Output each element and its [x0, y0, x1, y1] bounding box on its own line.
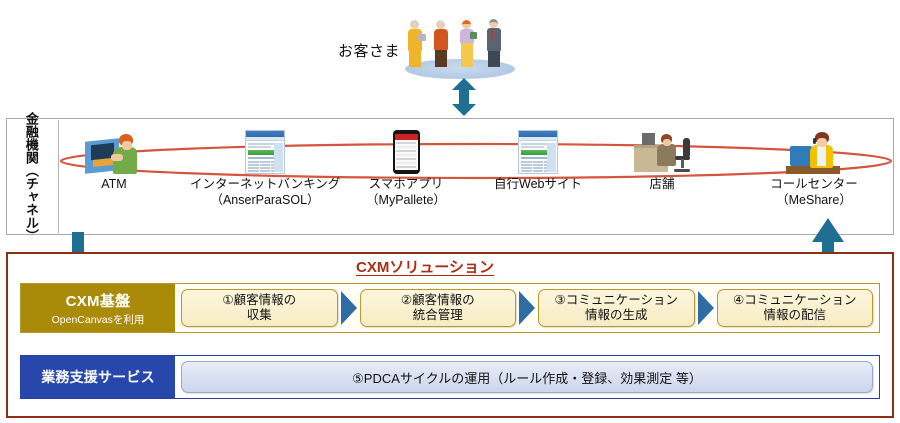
double-arrow-icon [452, 78, 476, 116]
channel-vertical-label: 金融機関（チャネル） [10, 124, 52, 230]
person-figure [432, 20, 449, 67]
browser-window-icon [478, 128, 598, 174]
channel-sublabel: （MeShare） [748, 193, 880, 209]
service-badge: 業務支援サービス [21, 356, 175, 398]
chevron-right-icon [338, 291, 360, 325]
channel-item-branch[interactable]: 店舗 [612, 128, 712, 193]
shoulder-bag-icon [470, 32, 477, 39]
atm-icon [66, 128, 162, 174]
channel-item-internet-banking[interactable]: インターネットバンキング （AnserParaSOL） [190, 128, 340, 208]
channel-sublabel: （MyPallete） [350, 193, 462, 209]
cxm-step[interactable]: ①顧客情報の 収集 [181, 289, 338, 327]
chevron-right-icon [516, 291, 538, 325]
channel-label: スマホアプリ [350, 177, 462, 193]
service-bar-wrap: ⑤PDCAサイクルの運用（ルール作成・登録、効果測定 等） [175, 356, 879, 398]
channel-label: ATM [66, 177, 162, 193]
branch-desk-icon [612, 128, 712, 174]
cxm-step[interactable]: ④コミュニケーション 情報の配信 [717, 289, 874, 327]
cxm-platform-title: CXM基盤 [66, 290, 131, 311]
person-figure [485, 19, 502, 67]
handbag-icon [418, 34, 426, 41]
channel-divider [58, 120, 59, 233]
cxm-step[interactable]: ③コミュニケーション 情報の生成 [538, 289, 695, 327]
cxm-step-list: ①顧客情報の 収集 ②顧客情報の 統合管理 ③コミュニケーション 情報の生成 ④… [175, 284, 879, 332]
person-figure [406, 20, 423, 67]
channel-label: コールセンター [748, 177, 880, 193]
cxm-platform-subtitle: OpenCanvasを利用 [52, 312, 145, 327]
customer-label: お客さま [338, 40, 400, 61]
cxm-solution-title: CXMソリューション [356, 256, 494, 277]
cxm-step[interactable]: ②顧客情報の 統合管理 [360, 289, 517, 327]
cxm-platform-badge: CXM基盤 OpenCanvasを利用 [21, 284, 175, 332]
smartphone-icon [350, 128, 462, 174]
browser-window-icon [190, 128, 340, 174]
customer-people-group [400, 2, 520, 80]
channel-item-smartphone-app[interactable]: スマホアプリ （MyPallete） [350, 128, 462, 208]
channel-item-own-website[interactable]: 自行Webサイト [478, 128, 598, 193]
pdca-cycle-bar[interactable]: ⑤PDCAサイクルの運用（ルール作成・登録、効果測定 等） [181, 361, 873, 393]
channel-item-call-center[interactable]: コールセンター （MeShare） [748, 128, 880, 208]
cxm-platform-row: CXM基盤 OpenCanvasを利用 ①顧客情報の 収集 ②顧客情報の 統合管… [20, 283, 880, 333]
channel-item-atm[interactable]: ATM [66, 128, 162, 193]
diagram-root: お客さま 金融機関（チャネル） [0, 0, 900, 423]
channel-label: 店舗 [612, 177, 712, 193]
channel-label: インターネットバンキング [190, 177, 340, 193]
call-center-icon [748, 128, 880, 174]
person-figure [458, 20, 475, 67]
business-support-service-row: 業務支援サービス ⑤PDCAサイクルの運用（ルール作成・登録、効果測定 等） [20, 355, 880, 399]
channel-label: 自行Webサイト [478, 177, 598, 193]
chevron-right-icon [695, 291, 717, 325]
channel-sublabel: （AnserParaSOL） [190, 193, 340, 209]
